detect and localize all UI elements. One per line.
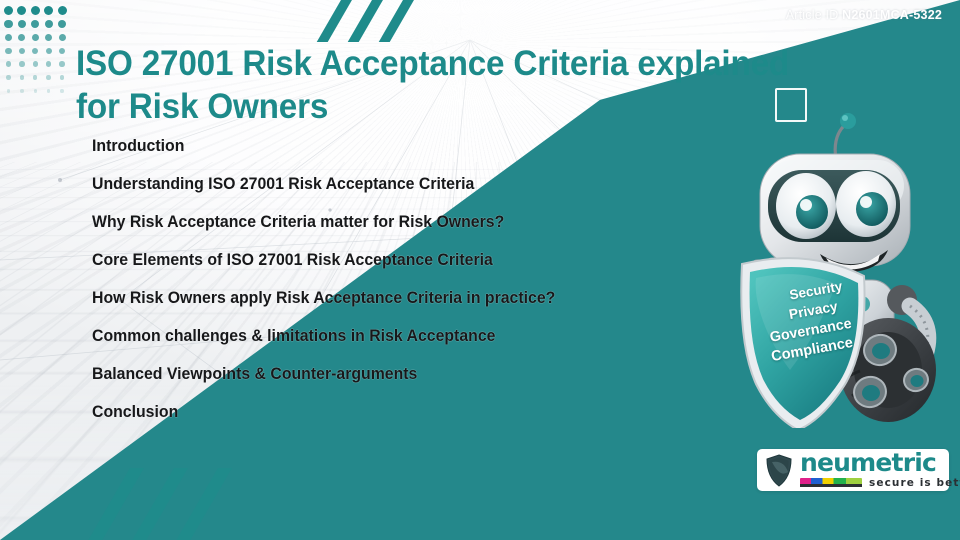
dot-grid-dot — [19, 48, 25, 54]
dot-grid-dot — [60, 75, 64, 79]
dot-grid-dot — [31, 6, 40, 15]
dot-grid-dot — [6, 75, 10, 79]
list-item[interactable]: Why Risk Acceptance Criteria matter for … — [92, 214, 687, 231]
dot-grid-dot — [46, 75, 50, 79]
dot-grid-dot — [45, 20, 53, 28]
presentation-slide: Article ID N2601MCA-5322 ISO 27001 Risk … — [0, 0, 960, 540]
dot-grid-dot — [4, 20, 12, 28]
list-item[interactable]: Balanced Viewpoints & Counter-arguments — [92, 366, 687, 383]
neumetric-logo[interactable]: neumetric secure is better — [757, 449, 949, 491]
dot-grid-dot — [59, 48, 65, 54]
dot-grid-dot — [33, 61, 38, 66]
dot-grid-dot — [32, 34, 39, 41]
dot-grid-dot — [59, 61, 64, 66]
list-item[interactable]: Understanding ISO 27001 Risk Acceptance … — [92, 176, 687, 193]
list-item[interactable]: Common challenges & limitations in Risk … — [92, 328, 687, 345]
dot-grid-dot — [34, 89, 38, 93]
dot-grid-dot — [6, 61, 11, 66]
dot-grid-dot — [19, 61, 24, 66]
logo-color-bar-icon — [800, 478, 862, 487]
dot-grid-dot — [58, 6, 67, 15]
article-id-label: Article ID — [786, 8, 839, 22]
dot-grid-dot — [60, 89, 64, 93]
dot-grid-dot — [46, 48, 52, 54]
table-of-contents: Introduction Understanding ISO 27001 Ris… — [92, 138, 712, 442]
list-item[interactable]: Introduction — [92, 138, 687, 155]
dot-grid-dot — [7, 89, 11, 93]
page-title-line1: ISO 27001 Risk Acceptance Criteria expla… — [76, 42, 855, 85]
list-item[interactable]: How Risk Owners apply Risk Acceptance Cr… — [92, 290, 687, 307]
dot-grid-dot — [20, 75, 24, 79]
robot-mascot-icon — [720, 108, 960, 428]
logo-tagline: secure is better — [869, 477, 960, 489]
list-item[interactable]: Core Elements of ISO 27001 Risk Acceptan… — [92, 252, 687, 269]
dot-grid-dot — [18, 20, 26, 28]
dot-grid-dot — [5, 48, 11, 54]
dot-grid-dot — [4, 6, 13, 15]
dot-grid-dot — [59, 34, 66, 41]
article-id: Article ID N2601MCA-5322 — [786, 8, 942, 22]
dot-grid-dot — [20, 89, 24, 93]
neumetric-shield-icon — [765, 454, 793, 487]
list-item[interactable]: Conclusion — [92, 404, 687, 421]
dot-grid-dot — [5, 34, 12, 41]
article-id-value: N2601MCA-5322 — [842, 8, 942, 22]
logo-wordmark: neumetric — [800, 451, 960, 475]
dot-grid-dot — [58, 20, 66, 28]
